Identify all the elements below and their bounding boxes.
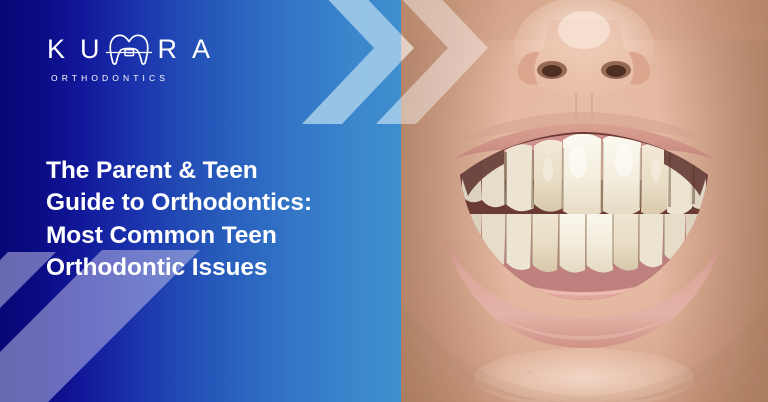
logo-letter-r: R: [158, 36, 178, 63]
page-title: The Parent & Teen Guide to Orthodontics:…: [46, 155, 376, 284]
logo-letter-u: U: [80, 36, 100, 63]
logo-letter-a: A: [192, 36, 210, 63]
chevron-right-icon: [302, 0, 401, 124]
chevron-right-icon-group: [290, 0, 401, 142]
mouth-photo: [400, 0, 768, 402]
logo-letter-k: K: [47, 36, 65, 63]
blue-gradient-panel: K U R A ORTHODONTICS: [0, 0, 401, 402]
logo-wordmark: K U R A: [47, 32, 257, 66]
logo-subtitle: ORTHODONTICS: [51, 73, 257, 83]
chevron-right-icon: [376, 0, 401, 124]
blog-header-banner: K U R A ORTHODONTICS: [0, 0, 768, 402]
kumra-orthodontics-logo[interactable]: K U R A ORTHODONTICS: [47, 32, 257, 83]
tooth-with-braces-icon: [106, 33, 152, 65]
